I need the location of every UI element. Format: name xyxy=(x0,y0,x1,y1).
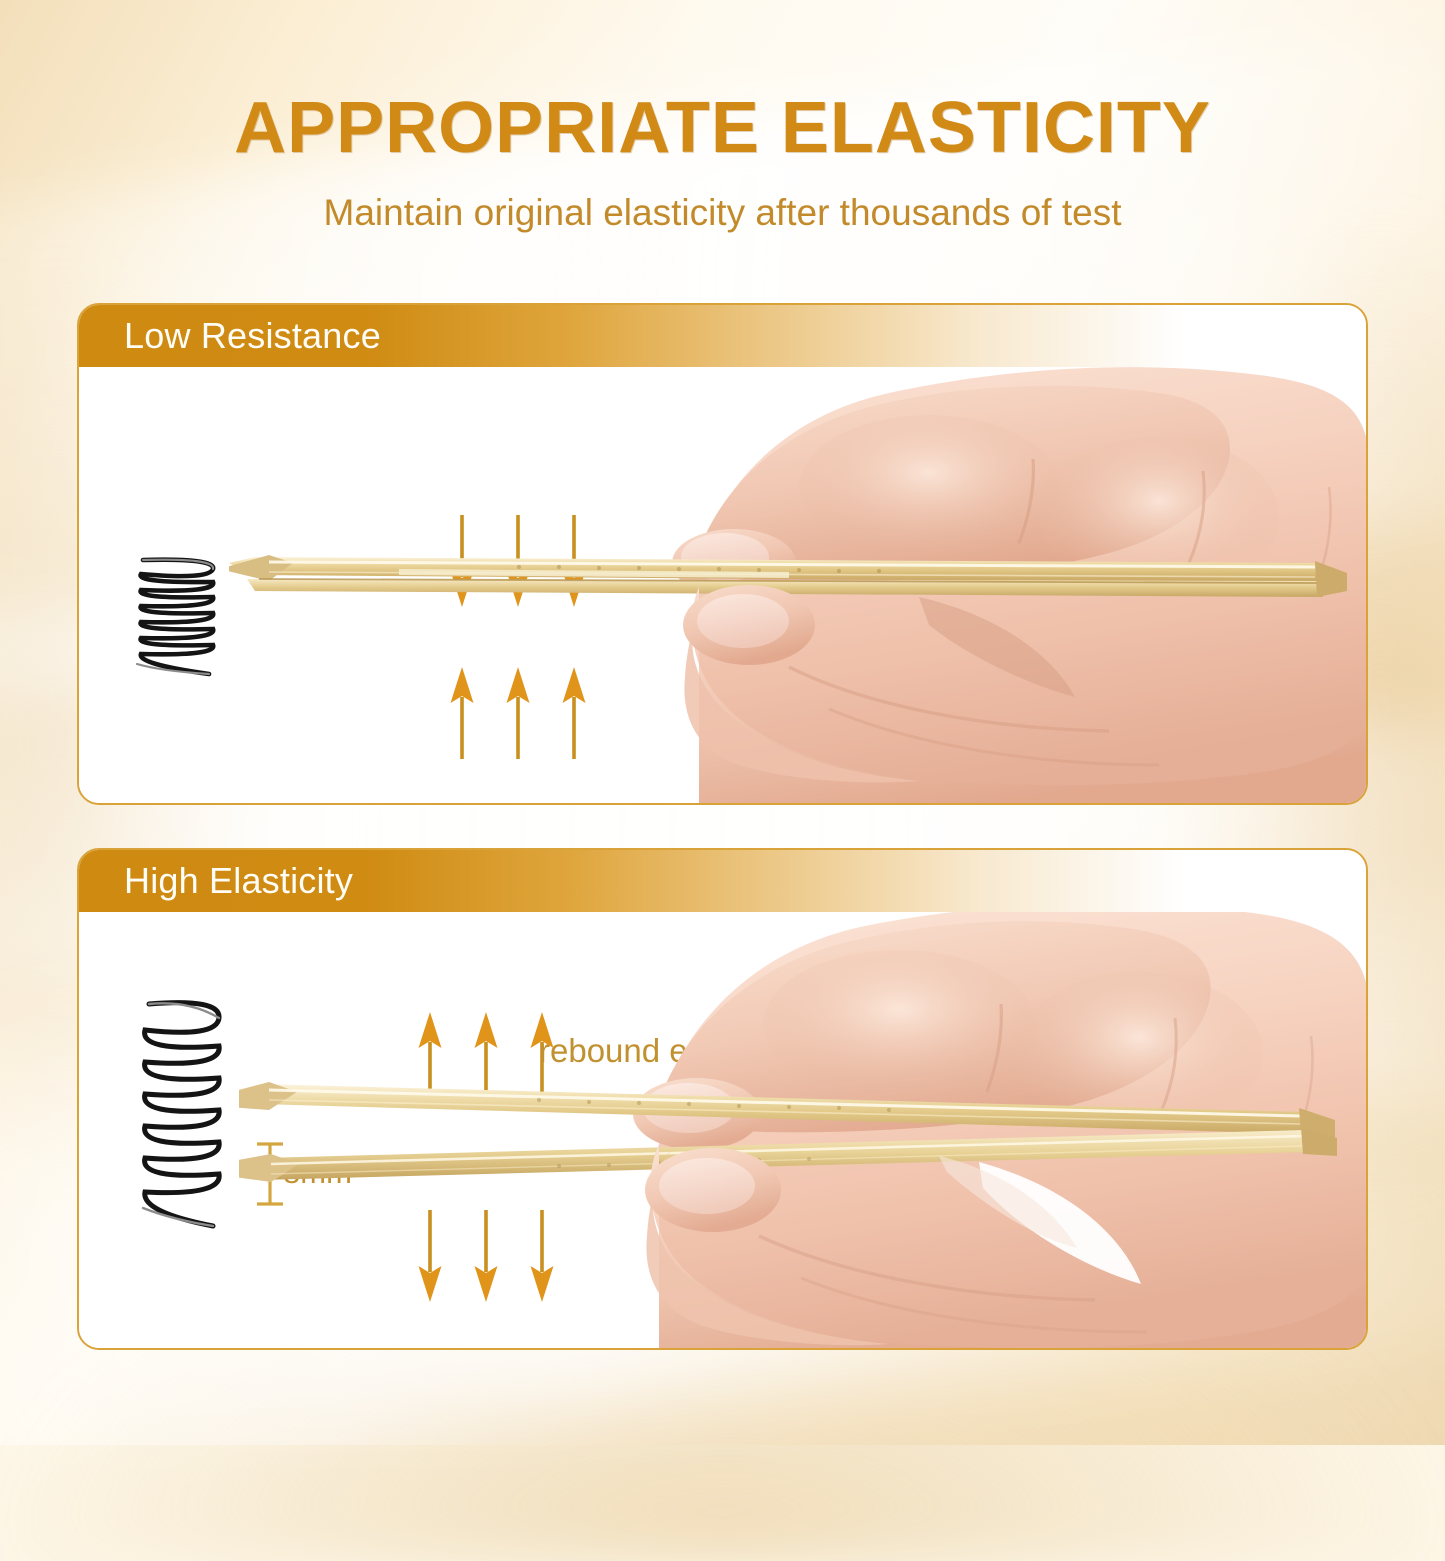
thumbnail xyxy=(697,594,789,648)
panel-badge-low-resistance: Low Resistance xyxy=(79,305,1366,367)
thumbnail xyxy=(659,1158,755,1214)
panel-badge-high-elasticity: High Elasticity xyxy=(79,850,1366,912)
header: APPROPRIATE ELASTICITY Maintain original… xyxy=(0,92,1445,231)
panel-high-elasticity: High Elasticity rebo xyxy=(77,848,1368,1350)
panel-low-resistance: Low Resistance xyxy=(77,303,1368,805)
compressed-coil-spring-icon xyxy=(121,552,231,682)
page-subtitle: Maintain original elasticity after thous… xyxy=(0,194,1445,231)
photo-hand-with-closed-tweezers xyxy=(229,367,1368,805)
photo-hand-with-open-tweezers xyxy=(239,912,1368,1350)
stretched-coil-spring-icon xyxy=(119,994,239,1234)
page-title: APPROPRIATE ELASTICITY xyxy=(0,92,1445,164)
panel-badge-label: Low Resistance xyxy=(79,318,381,354)
panel-body-low-resistance xyxy=(79,367,1366,805)
panel-body-high-elasticity: rebound easily 8mm xyxy=(79,912,1366,1350)
panel-badge-label: High Elasticity xyxy=(79,863,353,899)
